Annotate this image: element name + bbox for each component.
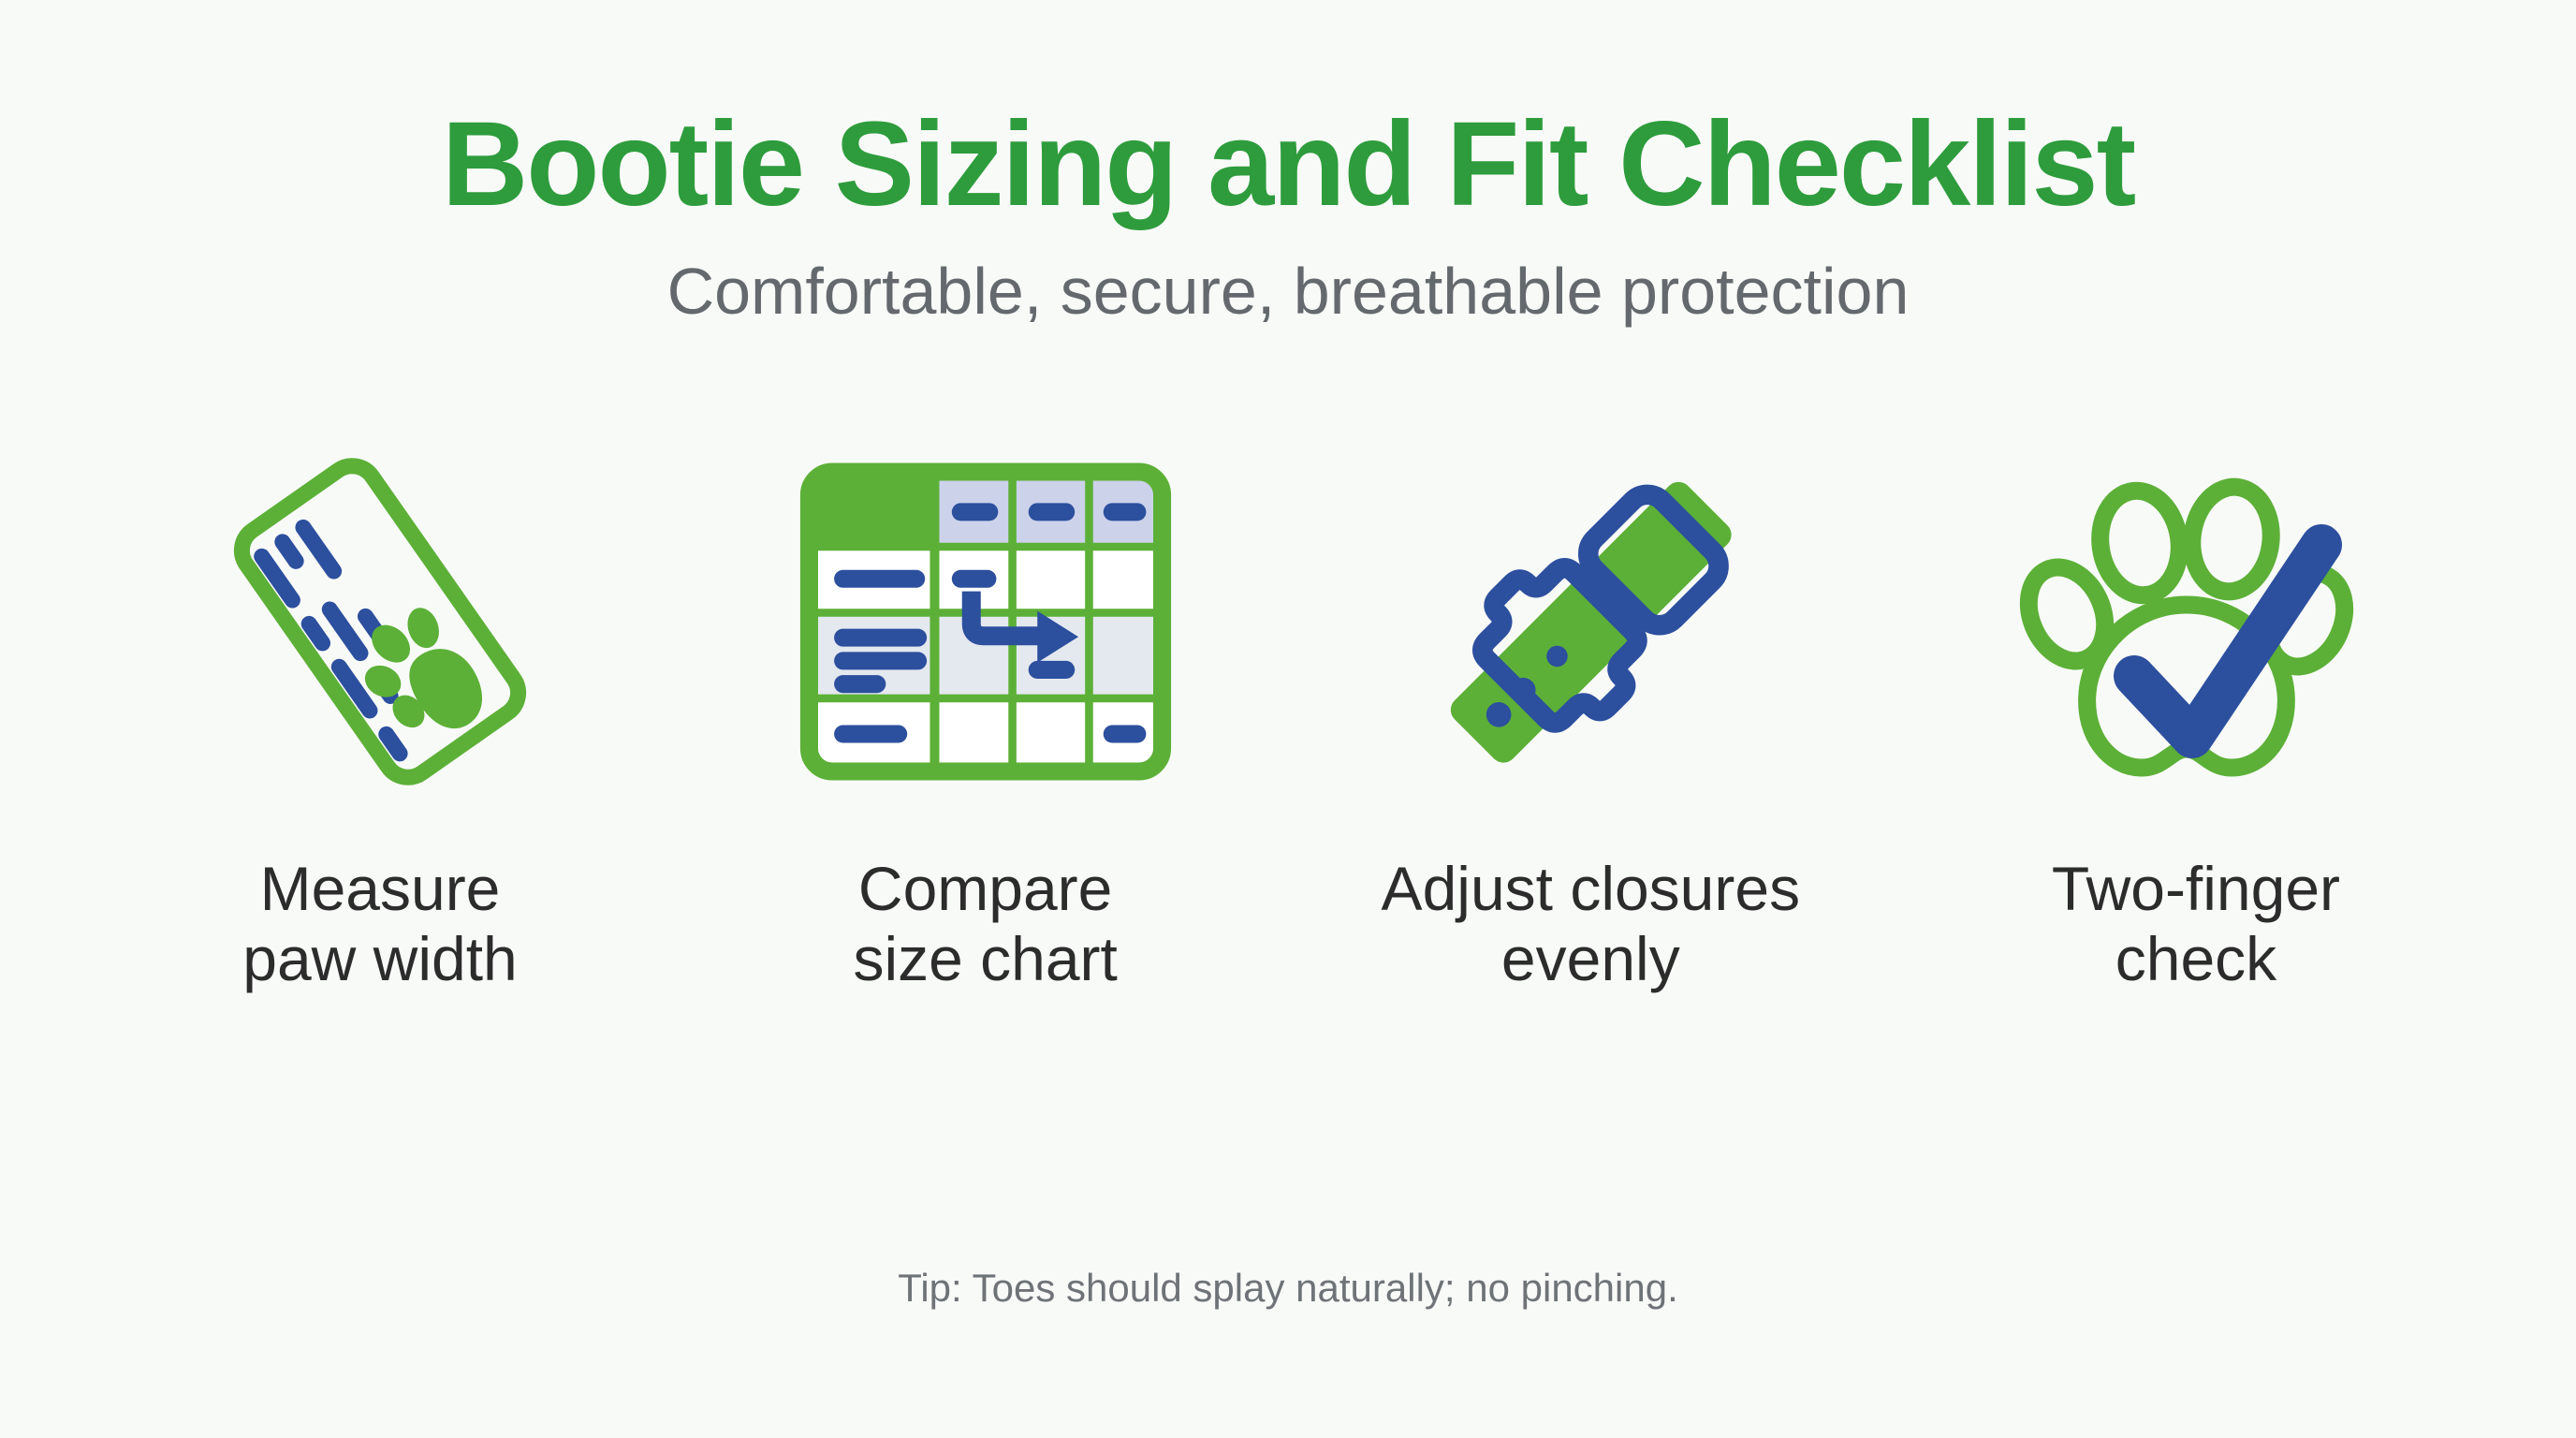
icon-container: [789, 434, 1182, 809]
step-compare-size-chart: Comparesize chart: [695, 434, 1276, 993]
page-subtitle: Comfortable, secure, breathable protecti…: [0, 258, 2576, 324]
step-two-finger-check: Two-fingercheck: [1906, 434, 2486, 993]
collar-closure-icon: [1398, 430, 1782, 814]
step-label: Two-fingercheck: [2052, 854, 2340, 993]
step-label: Measurepaw width: [242, 854, 518, 993]
size-chart-table-icon: [798, 434, 1173, 809]
icon-container: [183, 434, 577, 809]
step-adjust-closures: Adjust closuresevenly: [1300, 434, 1881, 993]
ruler-paw-icon: [193, 434, 567, 809]
footer: Tip: Toes should splay naturally; no pin…: [0, 1266, 2576, 1311]
paw-check-icon: [2009, 434, 2383, 809]
page-title: Bootie Sizing and Fit Checklist: [0, 105, 2576, 225]
icon-container: [1999, 434, 2393, 809]
header: Bootie Sizing and Fit Checklist Comforta…: [0, 0, 2576, 324]
icon-container: [1394, 434, 1787, 809]
tip-text: Tip: Toes should splay naturally; no pin…: [0, 1266, 2576, 1311]
step-label: Comparesize chart: [853, 854, 1117, 993]
steps-row: Measurepaw width: [90, 434, 2486, 993]
step-measure-paw-width: Measurepaw width: [90, 434, 670, 993]
infographic-poster: Bootie Sizing and Fit Checklist Comforta…: [0, 0, 2576, 1438]
step-label: Adjust closuresevenly: [1382, 854, 1801, 993]
